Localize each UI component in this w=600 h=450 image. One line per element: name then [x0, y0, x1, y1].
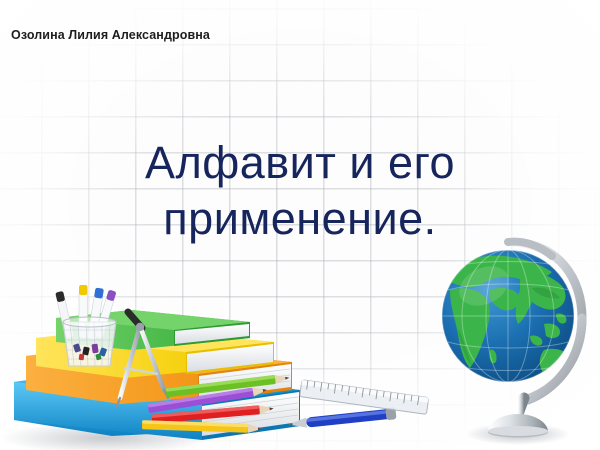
author-name: Озолина Лилия Александровна [11, 28, 210, 42]
title-line-2: применение. [0, 191, 600, 247]
book-stack-illustration [0, 270, 430, 450]
title-line-1: Алфавит и его [0, 135, 600, 191]
globe-stem [518, 398, 524, 414]
presentation-slide: Озолина Лилия Александровна Алфавит и ег… [0, 0, 600, 450]
slide-title: Алфавит и его применение. [0, 135, 600, 247]
globe-illustration [432, 228, 600, 450]
ruler-illustration [300, 380, 429, 415]
ballpoint-pen-illustration [288, 407, 397, 430]
